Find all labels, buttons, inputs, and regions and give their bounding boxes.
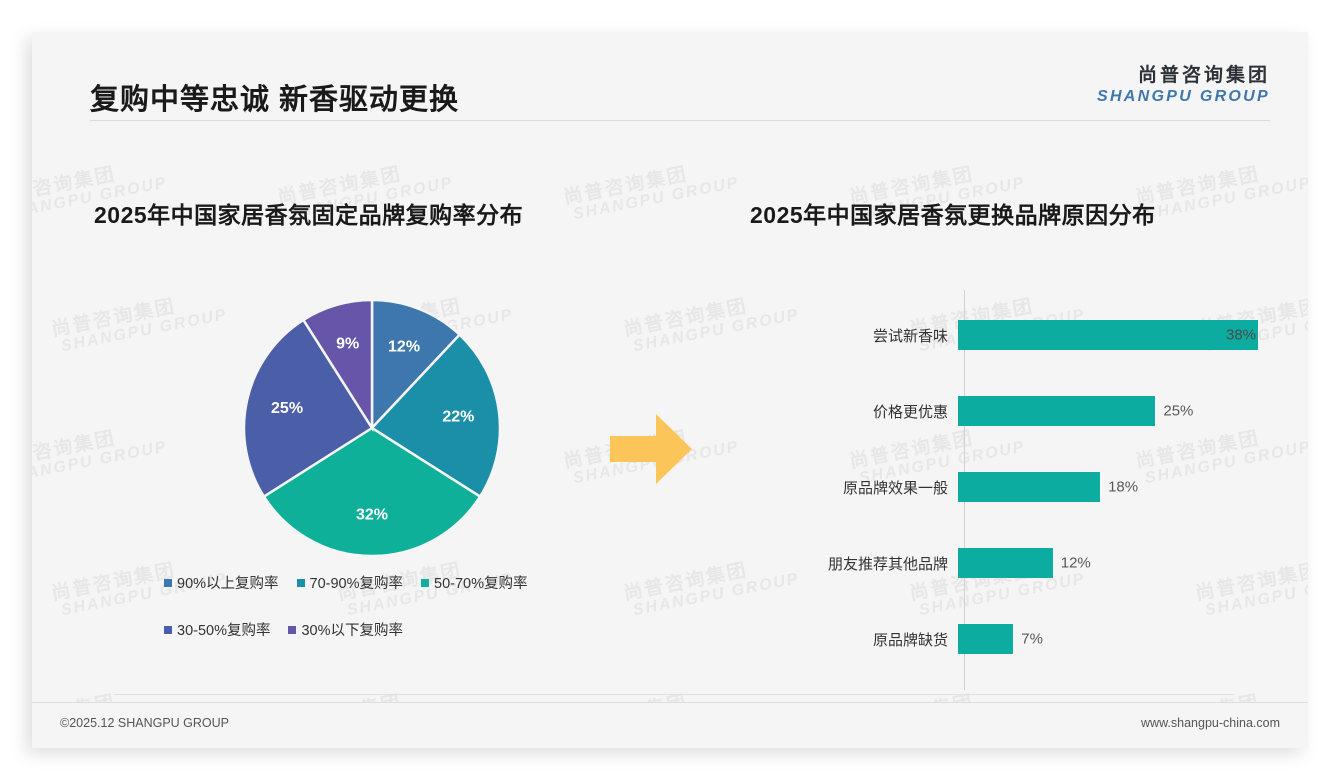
header-divider — [90, 120, 1270, 121]
bar-value-label: 25% — [1163, 403, 1193, 420]
watermark-tile: 尚普咨询集团SHANGPU GROUP — [562, 156, 741, 225]
footer-copyright: ©2025.12 SHANGPU GROUP — [60, 716, 229, 730]
bar-value-label: 7% — [1021, 631, 1043, 648]
bar-track: 18% — [958, 472, 1282, 502]
watermark-tile: 尚普咨询集团SHANGPU GROUP — [32, 420, 169, 489]
bar-fill[interactable] — [958, 320, 1258, 350]
watermark-tile: 尚普咨询集团SHANGPU GROUP — [1134, 156, 1308, 225]
watermark-tile: 尚普咨询集团SHANGPU GROUP — [622, 552, 801, 621]
watermark-tile: 尚普咨询集团SHANGPU GROUP — [622, 288, 801, 357]
left-chart-title: 2025年中国家居香氛固定品牌复购率分布 — [94, 196, 523, 230]
legend-item[interactable]: 30-50%复购率 — [164, 619, 270, 640]
bar-value-label: 38% — [1226, 327, 1256, 344]
pie-slice-label: 32% — [356, 506, 388, 523]
bar-row[interactable]: 价格更优惠25% — [792, 396, 1282, 426]
legend-swatch-icon — [288, 626, 296, 634]
legend-item[interactable]: 70-90%复购率 — [297, 572, 403, 593]
legend-item-label: 50-70%复购率 — [434, 572, 527, 593]
bar-fill[interactable] — [958, 472, 1100, 502]
legend-item-label: 90%以上复购率 — [177, 572, 279, 593]
legend-item-label: 30-50%复购率 — [177, 619, 270, 640]
pie-chart-svg: 12%22%32%25%9% — [212, 285, 532, 570]
bar-row[interactable]: 原品牌效果一般18% — [792, 472, 1282, 502]
bar-track: 12% — [958, 548, 1282, 578]
legend-swatch-icon — [297, 579, 305, 587]
pie-legend: 90%以上复购率70-90%复购率50-70%复购率30-50%复购率30%以下… — [164, 572, 594, 640]
pie-slice-label: 25% — [271, 400, 303, 417]
pie-slice-label: 9% — [336, 336, 359, 353]
bar-category-label: 原品牌缺货 — [792, 629, 958, 650]
bar-fill[interactable] — [958, 548, 1053, 578]
note-divider — [114, 694, 1234, 695]
bar-track: 25% — [958, 396, 1282, 426]
bar-track: 38% — [958, 320, 1282, 350]
legend-swatch-icon — [421, 579, 429, 587]
bar-category-label: 价格更优惠 — [792, 401, 958, 422]
legend-item-label: 70-90%复购率 — [310, 572, 403, 593]
legend-item[interactable]: 30%以下复购率 — [288, 619, 403, 640]
brand-logo: 尚普咨询集团 SHANGPU GROUP — [1097, 60, 1270, 106]
watermark-tile: 尚普咨询集团SHANGPU GROUP — [50, 288, 229, 357]
bar-value-label: 18% — [1108, 479, 1138, 496]
bar-row[interactable]: 原品牌缺货7% — [792, 624, 1282, 654]
footer-website[interactable]: www.shangpu-china.com — [1141, 716, 1280, 730]
slide-canvas: 尚普咨询集团SHANGPU GROUP尚普咨询集团SHANGPU GROUP尚普… — [32, 32, 1308, 748]
legend-item[interactable]: 50-70%复购率 — [421, 572, 527, 593]
pie-slice-label: 22% — [442, 408, 474, 425]
bar-category-label: 原品牌效果一般 — [792, 477, 958, 498]
bar-value-label: 12% — [1061, 555, 1091, 572]
legend-item-label: 30%以下复购率 — [301, 619, 403, 640]
bar-chart: 尝试新香味38%价格更优惠25%原品牌效果一般18%朋友推荐其他品牌12%原品牌… — [792, 290, 1282, 690]
legend-swatch-icon — [164, 579, 172, 587]
slide-header: 复购中等忠诚 新香驱动更换 尚普咨询集团 SHANGPU GROUP — [32, 32, 1308, 120]
bar-row[interactable]: 朋友推荐其他品牌12% — [792, 548, 1282, 578]
bar-fill[interactable] — [958, 624, 1013, 654]
legend-swatch-icon — [164, 626, 172, 634]
right-arrow-icon — [610, 410, 692, 493]
right-chart-title: 2025年中国家居香氛更换品牌原因分布 — [750, 196, 1156, 230]
logo-text-en: SHANGPU GROUP — [1097, 88, 1270, 106]
logo-text-cn: 尚普咨询集团 — [1097, 60, 1270, 87]
pie-slice-label: 12% — [388, 338, 420, 355]
bar-track: 7% — [958, 624, 1282, 654]
bar-row[interactable]: 尝试新香味38% — [792, 320, 1282, 350]
bar-category-label: 尝试新香味 — [792, 325, 958, 346]
bar-fill[interactable] — [958, 396, 1155, 426]
pie-chart: 12%22%32%25%9% — [212, 285, 532, 570]
page-title: 复购中等忠诚 新香驱动更换 — [90, 76, 459, 118]
legend-item[interactable]: 90%以上复购率 — [164, 572, 279, 593]
bar-category-label: 朋友推荐其他品牌 — [792, 553, 958, 574]
slide-footer: ©2025.12 SHANGPU GROUP www.shangpu-china… — [32, 702, 1308, 748]
